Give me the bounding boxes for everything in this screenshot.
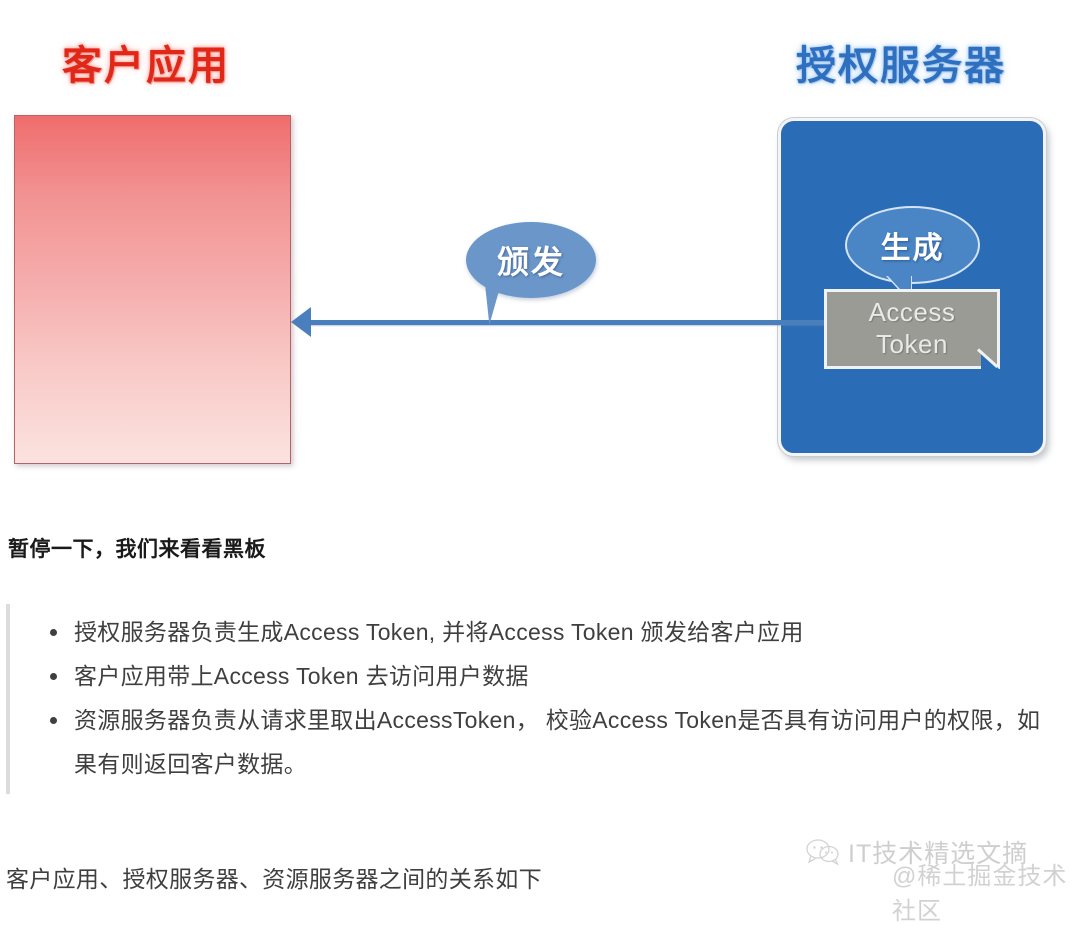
generate-speech-bubble: 生成 (845, 206, 980, 284)
generate-bubble-label: 生成 (881, 223, 945, 267)
client-app-title: 客户应用 (62, 33, 230, 91)
section-heading: 暂停一下，我们来看看黑板 (8, 533, 266, 563)
list-item: 授权服务器负责生成Access Token, 并将Access Token 颁发… (44, 610, 1054, 654)
watermark: IT技术精选文摘 @稀土掘金技术社区 (806, 834, 1074, 896)
wechat-icon (806, 838, 840, 866)
watermark-sub-text: @稀土掘金技术社区 (892, 856, 1074, 926)
access-token-note: Access Token (824, 289, 1000, 369)
client-app-box (14, 115, 291, 464)
issue-arrow-line (307, 320, 842, 325)
list-item: 客户应用带上Access Token 去访问用户数据 (44, 654, 1054, 698)
bullet-list: 授权服务器负责生成Access Token, 并将Access Token 颁发… (44, 610, 1054, 786)
closing-line: 客户应用、授权服务器、资源服务器之间的关系如下 (6, 860, 542, 894)
watermark-row-main: IT技术精选文摘 (806, 834, 1028, 870)
issue-arrow-head-icon (291, 307, 311, 337)
quote-accent-bar (6, 604, 10, 794)
issue-bubble-label: 颁发 (497, 237, 565, 283)
oauth-flow-diagram: 客户应用 授权服务器 颁发 生成 Access Token (0, 0, 1080, 500)
watermark-main-text: IT技术精选文摘 (848, 834, 1028, 870)
auth-server-title: 授权服务器 (796, 33, 1006, 91)
list-item: 资源服务器负责从请求里取出AccessToken， 校验Access Token… (44, 698, 1054, 786)
access-token-line-2: Token (876, 329, 948, 361)
auth-server-box (778, 118, 1046, 456)
access-token-line-1: Access (869, 297, 956, 329)
